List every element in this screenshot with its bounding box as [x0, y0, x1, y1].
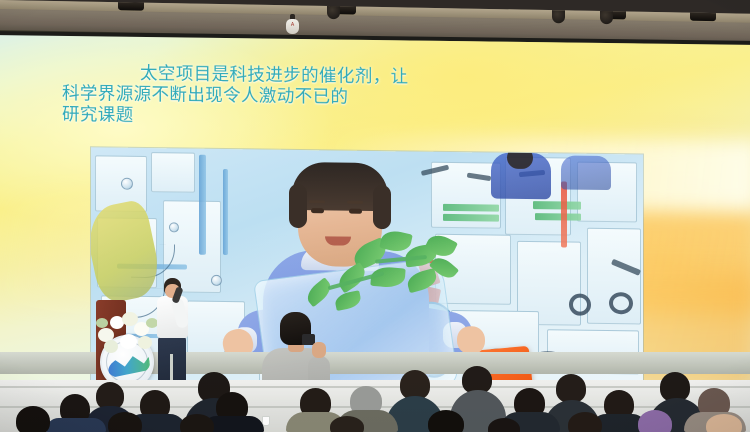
station-panel — [151, 152, 195, 193]
foliage — [96, 318, 108, 328]
audience-head — [330, 416, 364, 432]
audience-head — [638, 410, 672, 432]
station-knob — [211, 275, 222, 286]
background-crew — [561, 155, 611, 190]
ceiling-lamp-icon — [552, 10, 565, 23]
audience-head — [108, 412, 142, 432]
ceiling-fixture — [118, 2, 144, 10]
audience-head — [706, 414, 742, 432]
seated-audience — [0, 366, 750, 432]
station-strap — [569, 294, 591, 316]
ceiling-light-strip — [0, 0, 750, 23]
station-rail — [223, 169, 228, 255]
flower — [104, 340, 118, 353]
astronaut-eyebrow — [309, 200, 325, 203]
astronaut-eyebrow — [347, 201, 363, 204]
station-strap — [609, 292, 633, 314]
ceiling-fixture — [690, 13, 716, 21]
station-green-strip — [533, 201, 581, 210]
astronaut-hair-side — [373, 185, 391, 229]
audience-head — [16, 406, 50, 432]
audience-head — [568, 412, 602, 432]
astronaut-eye — [311, 208, 324, 213]
station-knob — [169, 222, 179, 232]
ceiling-lamp-icon — [600, 11, 613, 24]
station-green-strip — [535, 213, 581, 221]
standing-person-hand — [312, 342, 326, 358]
astronaut-hand — [457, 326, 485, 354]
ceiling-lamp-icon — [327, 6, 340, 19]
audience-head — [180, 414, 214, 432]
flower-arrangement — [96, 312, 160, 356]
slide-headline: 太空项目是科技进步的催化剂，让 科学界源源不断出现令人激动不已的 研究课题 — [102, 62, 602, 132]
sensor-label: A — [289, 23, 296, 28]
station-knob — [121, 178, 133, 190]
astronaut-hair-side — [289, 184, 307, 228]
conference-hall-photo: A 太空项目是科技进步的催化剂，让 科学界源源不断出现令人激动不已的 研究课题 — [0, 0, 750, 432]
flower — [138, 336, 152, 349]
water-cup — [262, 416, 270, 426]
audience-head — [556, 374, 586, 403]
audience-head — [428, 410, 464, 432]
station-rail — [561, 181, 567, 247]
flower — [120, 334, 137, 349]
astronaut-eye — [349, 209, 362, 214]
station-rail — [199, 155, 206, 255]
ceiling-sensor-icon: A — [286, 14, 299, 34]
audience-shoulders — [46, 418, 106, 432]
